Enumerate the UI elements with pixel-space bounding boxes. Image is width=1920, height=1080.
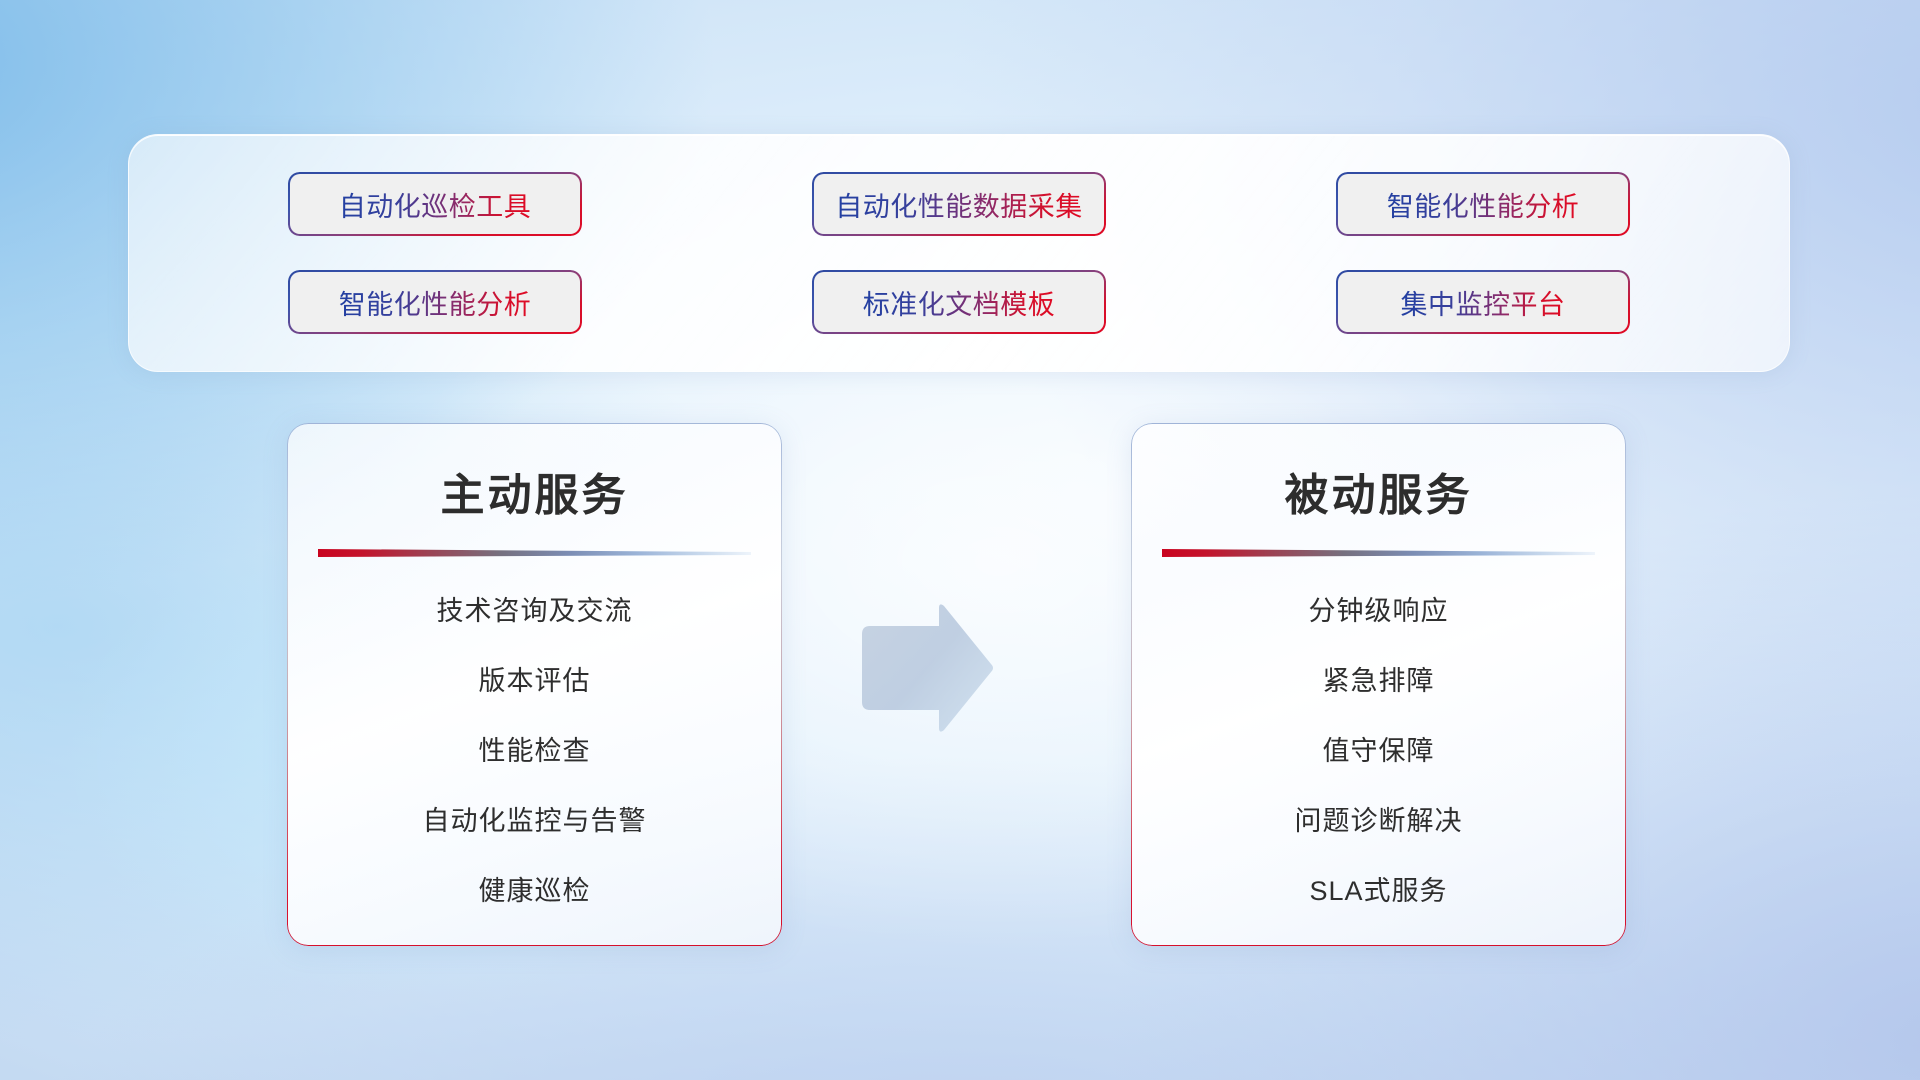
list-item: 紧急排障 bbox=[1162, 654, 1595, 709]
service-card-title: 主动服务 bbox=[441, 459, 629, 523]
capability-pill-label: 自动化巡检工具 bbox=[339, 185, 532, 224]
capability-pill-panel: 自动化巡检工具 自动化性能数据采集 智能化性能分析 智能化性能分析 标准化文档模… bbox=[128, 134, 1790, 372]
list-item: 值守保障 bbox=[1162, 724, 1595, 779]
service-card-title: 被动服务 bbox=[1285, 459, 1473, 523]
list-item: 自动化监控与告警 bbox=[318, 794, 751, 849]
capability-pill[interactable]: 集中监控平台 bbox=[1338, 272, 1628, 332]
capability-pill[interactable]: 自动化巡检工具 bbox=[290, 174, 580, 234]
title-divider bbox=[318, 546, 751, 558]
list-item: SLA式服务 bbox=[1162, 864, 1595, 919]
service-card-list: 技术咨询及交流 版本评估 性能检查 自动化监控与告警 健康巡检 bbox=[318, 584, 751, 919]
capability-pill[interactable]: 标准化文档模板 bbox=[814, 272, 1104, 332]
capability-pill-label: 自动化性能数据采集 bbox=[835, 185, 1083, 224]
capability-pill-label: 标准化文档模板 bbox=[863, 283, 1056, 322]
capability-pill-label: 智能化性能分析 bbox=[1387, 185, 1580, 224]
service-card-active: 主动服务 技术咨询及 bbox=[288, 424, 781, 945]
capability-pill[interactable]: 智能化性能分析 bbox=[1338, 174, 1628, 234]
list-item: 版本评估 bbox=[318, 654, 751, 709]
list-item: 问题诊断解决 bbox=[1162, 794, 1595, 849]
list-item: 技术咨询及交流 bbox=[318, 584, 751, 639]
capability-pill[interactable]: 自动化性能数据采集 bbox=[814, 174, 1104, 234]
list-item: 健康巡检 bbox=[318, 864, 751, 919]
capability-pill-label: 智能化性能分析 bbox=[339, 283, 532, 322]
capability-pill-label: 集中监控平台 bbox=[1401, 283, 1566, 322]
list-item: 分钟级响应 bbox=[1162, 584, 1595, 639]
flow-arrow-right-icon bbox=[858, 604, 996, 732]
service-card-passive: 被动服务 分钟级响应 bbox=[1132, 424, 1625, 945]
title-divider bbox=[1162, 546, 1595, 558]
service-card-list: 分钟级响应 紧急排障 值守保障 问题诊断解决 SLA式服务 bbox=[1162, 584, 1595, 919]
list-item: 性能检查 bbox=[318, 724, 751, 779]
capability-pill[interactable]: 智能化性能分析 bbox=[290, 272, 580, 332]
